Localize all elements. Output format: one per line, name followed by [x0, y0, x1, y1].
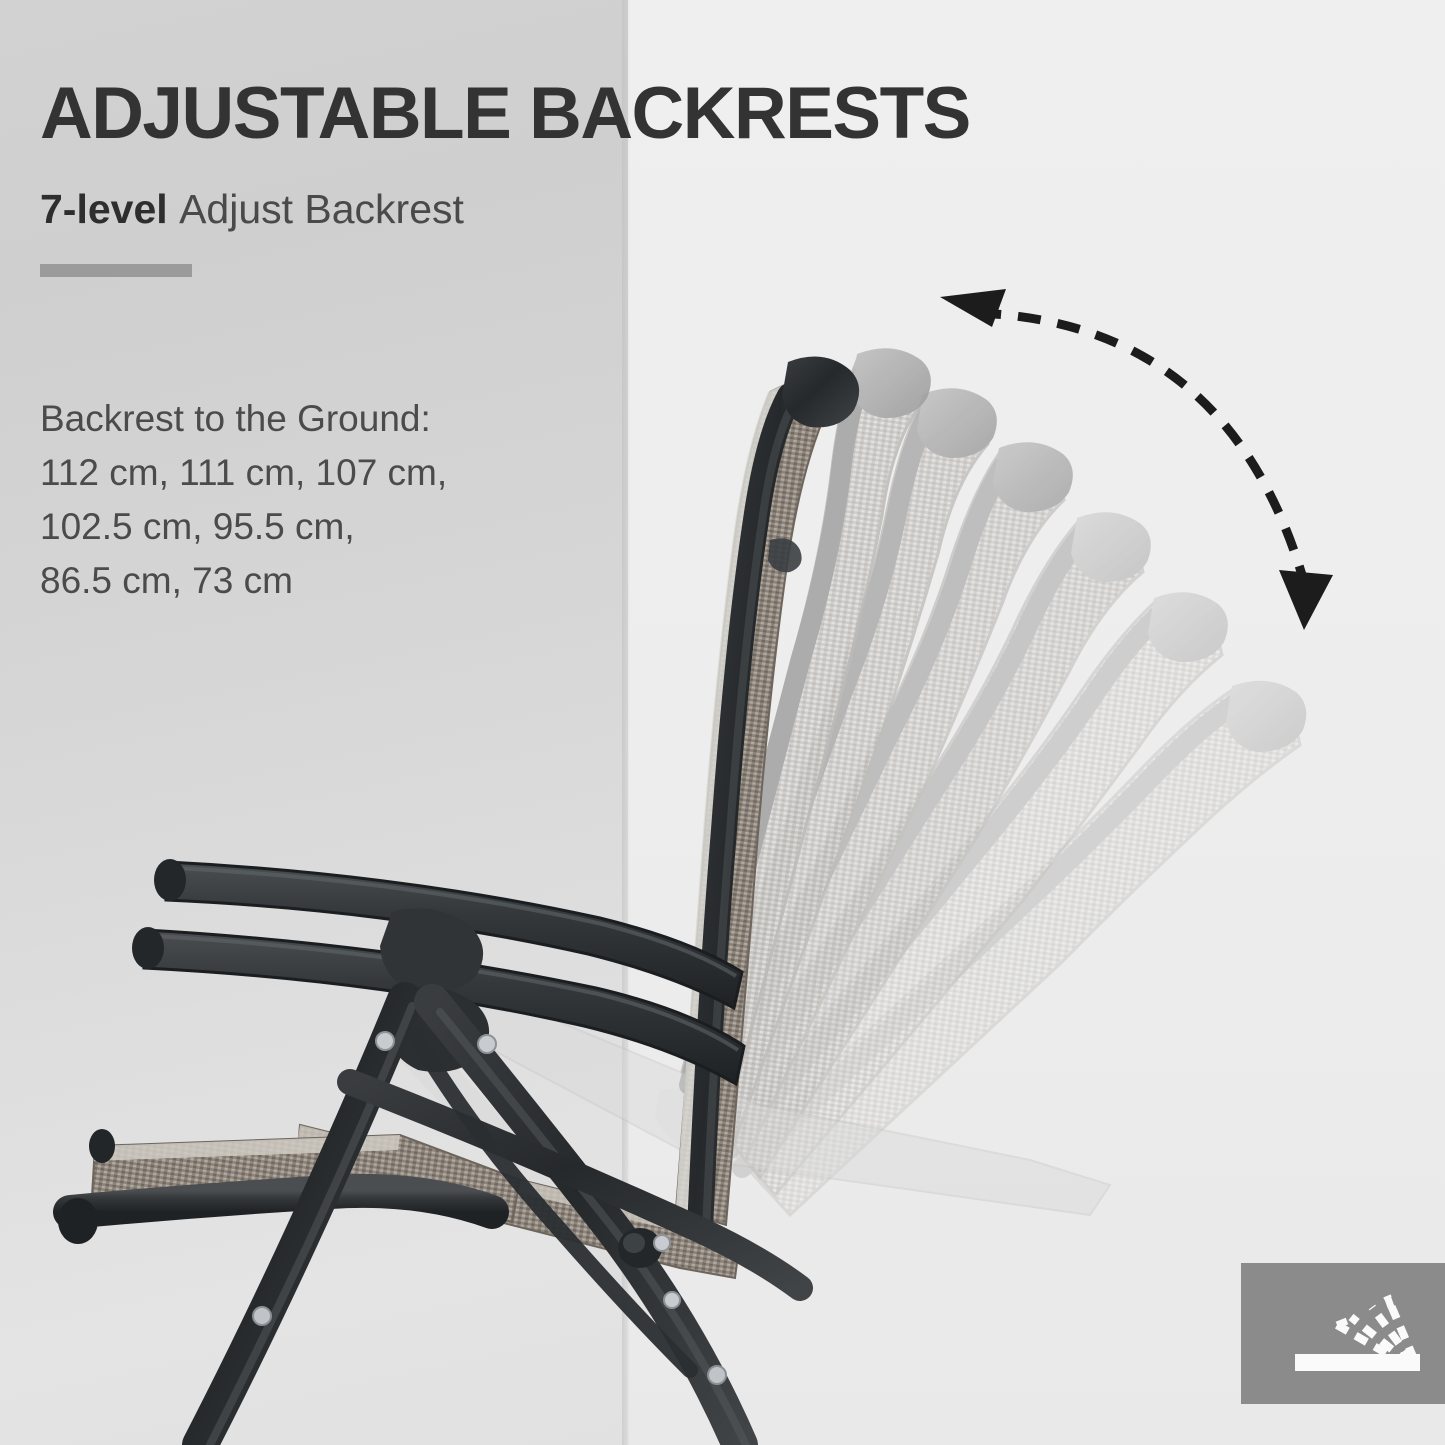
infographic-canvas: ADJUSTABLE BACKRESTS 7-level Adjust Back…	[0, 0, 1445, 1445]
page-title: ADJUSTABLE BACKRESTS	[40, 76, 970, 152]
specs-block: Backrest to the Ground: 112 cm, 111 cm, …	[40, 392, 570, 608]
recline-direction-arrow	[930, 265, 1360, 655]
subtitle-strong: 7-level	[40, 186, 168, 232]
specs-line-3: 86.5 cm, 73 cm	[40, 554, 570, 608]
recline-positions-icon	[1241, 1263, 1445, 1404]
subtitle-light: Adjust Backrest	[179, 186, 464, 232]
specs-line-2: 102.5 cm, 95.5 cm,	[40, 500, 570, 554]
feature-badge	[1241, 1263, 1445, 1404]
chair-leg-front	[200, 1000, 412, 1445]
specs-line-1: 112 cm, 111 cm, 107 cm,	[40, 446, 570, 500]
accent-bar	[40, 264, 192, 277]
specs-label: Backrest to the Ground:	[40, 392, 570, 446]
page-subtitle: 7-level Adjust Backrest	[40, 185, 464, 233]
